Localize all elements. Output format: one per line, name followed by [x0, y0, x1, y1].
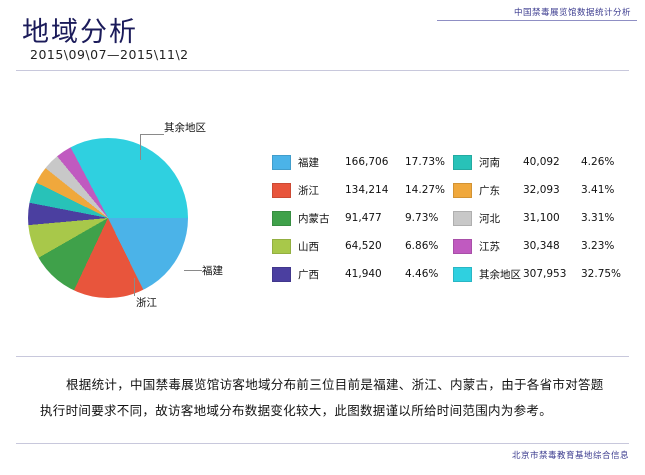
page-title: 地域分析	[22, 10, 138, 49]
legend-column-left: 福建166,70617.73%浙江134,21414.27%内蒙古91,4779…	[272, 148, 453, 288]
footer-divider	[16, 443, 629, 444]
legend-value: 64,520	[345, 240, 405, 252]
legend-value: 166,706	[345, 156, 405, 168]
pie-label-other: 其余地区	[164, 120, 206, 135]
pie-leader-other	[140, 134, 164, 135]
chart-legend: 福建166,70617.73%浙江134,21414.27%内蒙古91,4779…	[272, 148, 629, 288]
legend-label: 山西	[298, 239, 345, 254]
legend-row: 福建166,70617.73%	[272, 148, 453, 176]
legend-swatch-icon	[272, 155, 291, 170]
legend-swatch-icon	[272, 267, 291, 282]
legend-swatch-icon	[272, 239, 291, 254]
legend-swatch-icon	[272, 211, 291, 226]
legend-percent: 3.41%	[581, 184, 629, 196]
legend-label: 广东	[479, 183, 523, 198]
pie-leader-zhejiang	[134, 278, 135, 296]
legend-value: 31,100	[523, 212, 581, 224]
legend-value: 40,092	[523, 156, 581, 168]
legend-label: 其余地区	[479, 267, 523, 282]
legend-value: 307,953	[523, 268, 581, 280]
legend-value: 91,477	[345, 212, 405, 224]
header-right-text: 中国禁毒展览馆数据统计分析	[514, 6, 631, 18]
legend-percent: 3.23%	[581, 240, 629, 252]
legend-label: 福建	[298, 155, 345, 170]
legend-swatch-icon	[453, 239, 472, 254]
legend-row: 广东32,0933.41%	[453, 176, 629, 204]
title-divider	[16, 70, 629, 71]
legend-row: 广西41,9404.46%	[272, 260, 453, 288]
pie-leader-fujian	[184, 270, 202, 271]
pie-slices	[28, 138, 188, 298]
legend-swatch-icon	[272, 183, 291, 198]
legend-row: 浙江134,21414.27%	[272, 176, 453, 204]
legend-percent: 3.31%	[581, 212, 629, 224]
legend-label: 河南	[479, 155, 523, 170]
legend-row: 内蒙古91,4779.73%	[272, 204, 453, 232]
analysis-paragraph: 根据统计，中国禁毒展览馆访客地域分布前三位目前是福建、浙江、内蒙古，由于各省市对…	[40, 372, 605, 424]
legend-label: 内蒙古	[298, 211, 345, 226]
legend-label: 河北	[479, 211, 523, 226]
legend-row: 江苏30,3483.23%	[453, 232, 629, 260]
legend-percent: 4.46%	[405, 268, 453, 280]
legend-swatch-icon	[453, 211, 472, 226]
legend-row: 山西64,5206.86%	[272, 232, 453, 260]
legend-percent: 4.26%	[581, 156, 629, 168]
legend-value: 134,214	[345, 184, 405, 196]
legend-swatch-icon	[453, 267, 472, 282]
legend-percent: 17.73%	[405, 156, 453, 168]
pie-leader-other-2	[140, 134, 141, 160]
legend-row: 河南40,0924.26%	[453, 148, 629, 176]
date-range: 2015\09\07—2015\11\2	[30, 47, 189, 62]
legend-percent: 14.27%	[405, 184, 453, 196]
legend-row: 其余地区307,95332.75%	[453, 260, 629, 288]
legend-label: 浙江	[298, 183, 345, 198]
legend-value: 32,093	[523, 184, 581, 196]
legend-row: 河北31,1003.31%	[453, 204, 629, 232]
footer-text: 北京市禁毒教育基地综合信息	[512, 449, 629, 461]
legend-value: 41,940	[345, 268, 405, 280]
pie-label-fujian: 福建	[202, 263, 223, 278]
pie-chart: 其余地区 福建 浙江	[18, 120, 263, 310]
legend-percent: 6.86%	[405, 240, 453, 252]
legend-percent: 32.75%	[581, 268, 629, 280]
legend-value: 30,348	[523, 240, 581, 252]
legend-swatch-icon	[453, 155, 472, 170]
header-divider	[437, 20, 637, 21]
content-divider	[16, 356, 629, 357]
legend-column-right: 河南40,0924.26%广东32,0933.41%河北31,1003.31%江…	[453, 148, 629, 288]
legend-swatch-icon	[453, 183, 472, 198]
legend-label: 江苏	[479, 239, 523, 254]
pie-label-zhejiang: 浙江	[136, 295, 157, 310]
legend-label: 广西	[298, 267, 345, 282]
legend-percent: 9.73%	[405, 212, 453, 224]
